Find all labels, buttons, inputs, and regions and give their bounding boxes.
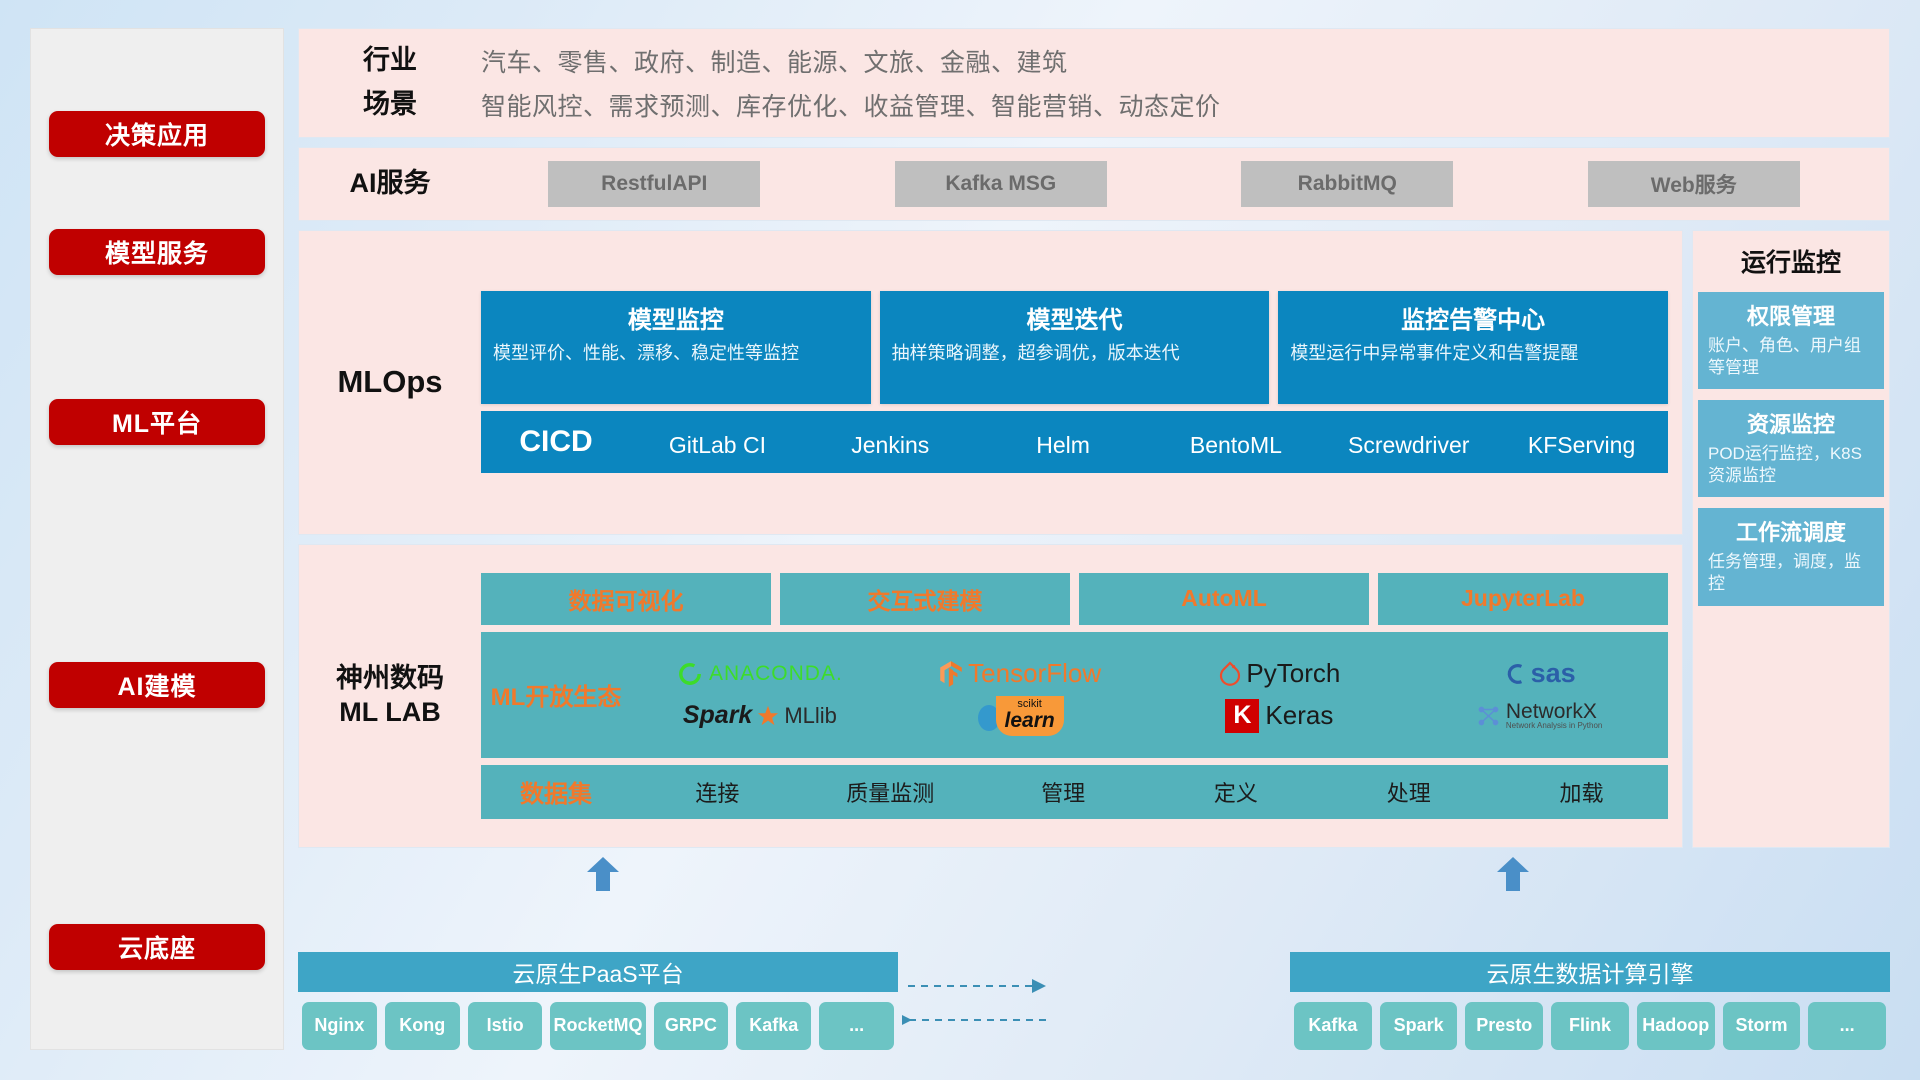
tensorflow-mark-icon xyxy=(938,660,964,688)
monitor-card-workflow[interactable]: 工作流调度 任务管理，调度，监控 xyxy=(1698,508,1884,605)
dataset-title: 数据集 xyxy=(481,774,631,809)
sas-logo: sas xyxy=(1503,658,1576,689)
cicd-item-screwdriver[interactable]: Screwdriver xyxy=(1322,426,1495,458)
spark-logo-text: Spark xyxy=(683,701,752,730)
card-desc: POD运行监控，K8S资源监控 xyxy=(1708,443,1874,487)
anaconda-logo: ANACONDA. xyxy=(677,661,843,687)
data-engine-title: 云原生数据计算引擎 xyxy=(1290,952,1890,992)
mlops-band: MLOps 模型监控 模型评价、性能、漂移、稳定性等监控 模型迭代 抽样策略调整… xyxy=(298,230,1683,535)
card-title: 资源监控 xyxy=(1708,407,1874,439)
rail-item-cloud-base[interactable]: 云底座 xyxy=(49,924,265,970)
card-title: 模型迭代 xyxy=(892,300,1258,335)
rail-item-ml-platform[interactable]: ML平台 xyxy=(49,399,265,445)
pytorch-logo-text: PyTorch xyxy=(1246,658,1340,689)
cloud-base-row: 云原生PaaS平台 Nginx Kong Istio RocketMQ GRPC… xyxy=(298,900,1890,1050)
cicd-items: GitLab CI Jenkins Helm BentoML Screwdriv… xyxy=(631,426,1668,458)
networkx-wordmark: NetworkX Network Analysis in Python xyxy=(1506,701,1603,730)
diagram-root: 决策应用 模型服务 ML平台 AI建模 云底座 行业 汽车、零售、政府、制造、能… xyxy=(0,0,1920,1080)
sas-logo-text: sas xyxy=(1531,658,1576,689)
cicd-bar: CICD GitLab CI Jenkins Helm BentoML Scre… xyxy=(481,411,1668,473)
mlops-content: 模型监控 模型评价、性能、漂移、稳定性等监控 模型迭代 抽样策略调整，超参调优，… xyxy=(481,291,1682,473)
cicd-item-bentoml[interactable]: BentoML xyxy=(1149,426,1322,458)
scenario-row: 场景 智能风控、需求预测、库存优化、收益管理、智能营销、动态定价 xyxy=(299,87,1889,123)
industry-label: 行业 xyxy=(299,44,481,78)
cicd-item-kfserving[interactable]: KFServing xyxy=(1495,426,1668,458)
keras-logo: K Keras xyxy=(1225,699,1333,733)
mlops-card-model-iteration[interactable]: 模型迭代 抽样策略调整，超参调优，版本迭代 xyxy=(880,291,1270,404)
mlops-cards: 模型监控 模型评价、性能、漂移、稳定性等监控 模型迭代 抽样策略调整，超参调优，… xyxy=(481,291,1668,404)
main-column: 行业 汽车、零售、政府、制造、能源、文旅、金融、建筑 场景 智能风控、需求预测、… xyxy=(298,28,1890,1050)
networkx-logo: NetworkX Network Analysis in Python xyxy=(1476,701,1603,730)
dataset-row: 数据集 连接 质量监测 管理 定义 处理 加载 xyxy=(481,765,1668,819)
paas-platform-block: 云原生PaaS平台 Nginx Kong Istio RocketMQ GRPC… xyxy=(298,952,898,1050)
ml-lab-top-items: 数据可视化 交互式建模 AutoML JupyterLab xyxy=(481,573,1668,625)
cicd-item-gitlab-ci[interactable]: GitLab CI xyxy=(631,426,804,458)
arrow-up-data-engine-icon xyxy=(1493,857,1533,891)
industry-row: 行业 汽车、零售、政府、制造、能源、文旅、金融、建筑 xyxy=(299,43,1889,79)
bidirectional-connector-icon xyxy=(902,972,1052,1032)
ml-ecosystem-title: ML开放生态 xyxy=(481,677,631,712)
keras-mark-icon: K xyxy=(1225,699,1259,733)
ai-service-web[interactable]: Web服务 xyxy=(1588,161,1800,207)
runtime-monitor-title: 运行监控 xyxy=(1741,243,1841,279)
cicd-item-helm[interactable]: Helm xyxy=(977,426,1150,458)
mlops-card-alert-center[interactable]: 监控告警中心 模型运行中异常事件定义和告警提醒 xyxy=(1278,291,1668,404)
ai-service-items: RestfulAPI Kafka MSG RabbitMQ Web服务 xyxy=(481,161,1889,207)
rail-item-decision-app[interactable]: 决策应用 xyxy=(49,111,265,157)
upward-arrows-row xyxy=(298,857,1890,891)
dataset-item-process[interactable]: 处理 xyxy=(1322,776,1495,808)
monitor-card-permission[interactable]: 权限管理 账户、角色、用户组等管理 xyxy=(1698,292,1884,389)
rail-label: 决策应用 xyxy=(105,116,209,152)
keras-logo-text: Keras xyxy=(1265,700,1333,731)
data-engine-block: 云原生数据计算引擎 Kafka Spark Presto Flink Hadoo… xyxy=(1290,952,1890,1050)
dataset-item-quality-monitor[interactable]: 质量监测 xyxy=(804,776,977,808)
card-desc: 账户、角色、用户组等管理 xyxy=(1708,335,1874,379)
platform-and-monitor-row: MLOps 模型监控 模型评价、性能、漂移、稳定性等监控 模型迭代 抽样策略调整… xyxy=(298,230,1890,848)
ml-lab-inner: 神州数码 ML LAB 数据可视化 交互式建模 AutoML JupyterLa… xyxy=(299,573,1682,819)
lab-item-data-visualization[interactable]: 数据可视化 xyxy=(481,573,771,625)
paas-chip-nginx[interactable]: Nginx xyxy=(302,1002,377,1050)
sas-mark-icon xyxy=(1503,661,1529,687)
rail-label: 云底座 xyxy=(118,929,196,965)
paas-chip-kafka[interactable]: Kafka xyxy=(736,1002,811,1050)
tensorflow-logo-text: TensorFlow xyxy=(968,658,1101,689)
layer-rail: 决策应用 模型服务 ML平台 AI建模 云底座 xyxy=(30,28,284,1050)
learn-text: learn xyxy=(1005,710,1055,731)
ai-service-rabbitmq[interactable]: RabbitMQ xyxy=(1241,161,1453,207)
mllib-logo-text: MLlib xyxy=(784,703,837,729)
dataset-item-connect[interactable]: 连接 xyxy=(631,776,804,808)
rail-item-model-service[interactable]: 模型服务 xyxy=(49,229,265,275)
ml-lab-band: 神州数码 ML LAB 数据可视化 交互式建模 AutoML JupyterLa… xyxy=(298,544,1683,849)
data-engine-chips: Kafka Spark Presto Flink Hadoop Storm ..… xyxy=(1290,992,1890,1050)
paas-chip-rocketmq[interactable]: RocketMQ xyxy=(550,1002,645,1050)
anaconda-mark-icon xyxy=(677,661,703,687)
paas-platform-title: 云原生PaaS平台 xyxy=(298,952,898,992)
engine-chip-storm[interactable]: Storm xyxy=(1723,1002,1801,1050)
engine-chip-presto[interactable]: Presto xyxy=(1465,1002,1543,1050)
ml-ecosystem-row: ML开放生态 ANACONDA. xyxy=(481,632,1668,758)
arrow-up-paas-icon xyxy=(583,857,623,891)
networkx-tagline: Network Analysis in Python xyxy=(1506,722,1603,730)
rail-label: AI建模 xyxy=(117,667,196,703)
decision-app-grid: 行业 汽车、零售、政府、制造、能源、文旅、金融、建筑 场景 智能风控、需求预测、… xyxy=(299,43,1889,123)
industry-values: 汽车、零售、政府、制造、能源、文旅、金融、建筑 xyxy=(481,43,1068,79)
cicd-title: CICD xyxy=(481,425,631,459)
cicd-item-jenkins[interactable]: Jenkins xyxy=(804,426,977,458)
engine-chip-spark[interactable]: Spark xyxy=(1380,1002,1458,1050)
dataset-item-load[interactable]: 加载 xyxy=(1495,776,1668,808)
card-title: 权限管理 xyxy=(1708,299,1874,331)
paas-chip-grpc[interactable]: GRPC xyxy=(654,1002,729,1050)
monitor-card-resource[interactable]: 资源监控 POD运行监控，K8S资源监控 xyxy=(1698,400,1884,497)
ai-service-kafka-msg[interactable]: Kafka MSG xyxy=(895,161,1107,207)
dataset-item-define[interactable]: 定义 xyxy=(1149,776,1322,808)
card-desc: 抽样策略调整，超参调优，版本迭代 xyxy=(892,341,1258,365)
dataset-items: 连接 质量监测 管理 定义 处理 加载 xyxy=(631,776,1668,808)
anaconda-logo-text: ANACONDA. xyxy=(709,662,843,686)
networkx-logo-text: NetworkX xyxy=(1506,701,1603,722)
engine-chip-flink[interactable]: Flink xyxy=(1551,1002,1629,1050)
engine-chip-hadoop[interactable]: Hadoop xyxy=(1637,1002,1715,1050)
platform-stack: MLOps 模型监控 模型评价、性能、漂移、稳定性等监控 模型迭代 抽样策略调整… xyxy=(298,230,1683,848)
pytorch-logo: PyTorch xyxy=(1218,658,1340,689)
rail-label: 模型服务 xyxy=(105,234,209,270)
card-desc: 模型运行中异常事件定义和告警提醒 xyxy=(1290,341,1656,365)
card-title: 工作流调度 xyxy=(1708,515,1874,547)
ml-lab-label-line2: ML LAB xyxy=(339,697,441,727)
lab-item-jupyterlab[interactable]: JupyterLab xyxy=(1378,573,1668,625)
card-desc: 任务管理，调度，监控 xyxy=(1708,551,1874,595)
mlops-card-model-monitor[interactable]: 模型监控 模型评价、性能、漂移、稳定性等监控 xyxy=(481,291,871,404)
dataset-item-manage[interactable]: 管理 xyxy=(977,776,1150,808)
card-desc: 模型评价、性能、漂移、稳定性等监控 xyxy=(493,341,859,365)
scikit-learn-wordmark: scikit learn xyxy=(996,696,1064,736)
lab-item-automl[interactable]: AutoML xyxy=(1079,573,1369,625)
ai-service-label: AI服务 xyxy=(299,167,481,201)
scikit-learn-logo: scikit learn xyxy=(976,696,1064,736)
paas-chip-more[interactable]: ... xyxy=(819,1002,894,1050)
rail-label: ML平台 xyxy=(112,404,202,440)
mlops-inner: MLOps 模型监控 模型评价、性能、漂移、稳定性等监控 模型迭代 抽样策略调整… xyxy=(299,241,1682,524)
ml-ecosystem-logos: ANACONDA. xyxy=(631,654,1668,736)
mlops-label: MLOps xyxy=(299,363,481,402)
card-title: 监控告警中心 xyxy=(1290,300,1656,335)
spark-mllib-logo: Spark MLlib xyxy=(683,701,837,730)
ml-lab-content: 数据可视化 交互式建模 AutoML JupyterLab ML开放生态 xyxy=(481,573,1682,819)
runtime-monitor-column: 运行监控 权限管理 账户、角色、用户组等管理 资源监控 POD运行监控，K8S资… xyxy=(1692,230,1890,848)
lab-item-interactive-modeling[interactable]: 交互式建模 xyxy=(780,573,1070,625)
spark-star-icon xyxy=(757,705,779,727)
engine-chip-more[interactable]: ... xyxy=(1808,1002,1886,1050)
scikit-text: scikit xyxy=(1005,698,1055,710)
networkx-mark-icon xyxy=(1476,703,1502,729)
scenario-label: 场景 xyxy=(299,88,481,122)
paas-chip-istio[interactable]: Istio xyxy=(468,1002,543,1050)
paas-chip-kong[interactable]: Kong xyxy=(385,1002,460,1050)
pytorch-mark-icon xyxy=(1218,661,1242,687)
ml-lab-label: 神州数码 ML LAB xyxy=(299,662,481,730)
scenario-values: 智能风控、需求预测、库存优化、收益管理、智能营销、动态定价 xyxy=(481,87,1221,123)
ml-lab-label-line1: 神州数码 xyxy=(336,663,444,693)
decision-app-band: 行业 汽车、零售、政府、制造、能源、文旅、金融、建筑 场景 智能风控、需求预测、… xyxy=(298,28,1890,138)
rail-item-ai-modeling[interactable]: AI建模 xyxy=(49,662,265,708)
ai-service-restfulapi[interactable]: RestfulAPI xyxy=(548,161,760,207)
tensorflow-logo: TensorFlow xyxy=(938,658,1101,689)
engine-chip-kafka[interactable]: Kafka xyxy=(1294,1002,1372,1050)
card-title: 模型监控 xyxy=(493,300,859,335)
ai-service-band: AI服务 RestfulAPI Kafka MSG RabbitMQ Web服务 xyxy=(298,147,1890,221)
paas-chips: Nginx Kong Istio RocketMQ GRPC Kafka ... xyxy=(298,992,898,1050)
